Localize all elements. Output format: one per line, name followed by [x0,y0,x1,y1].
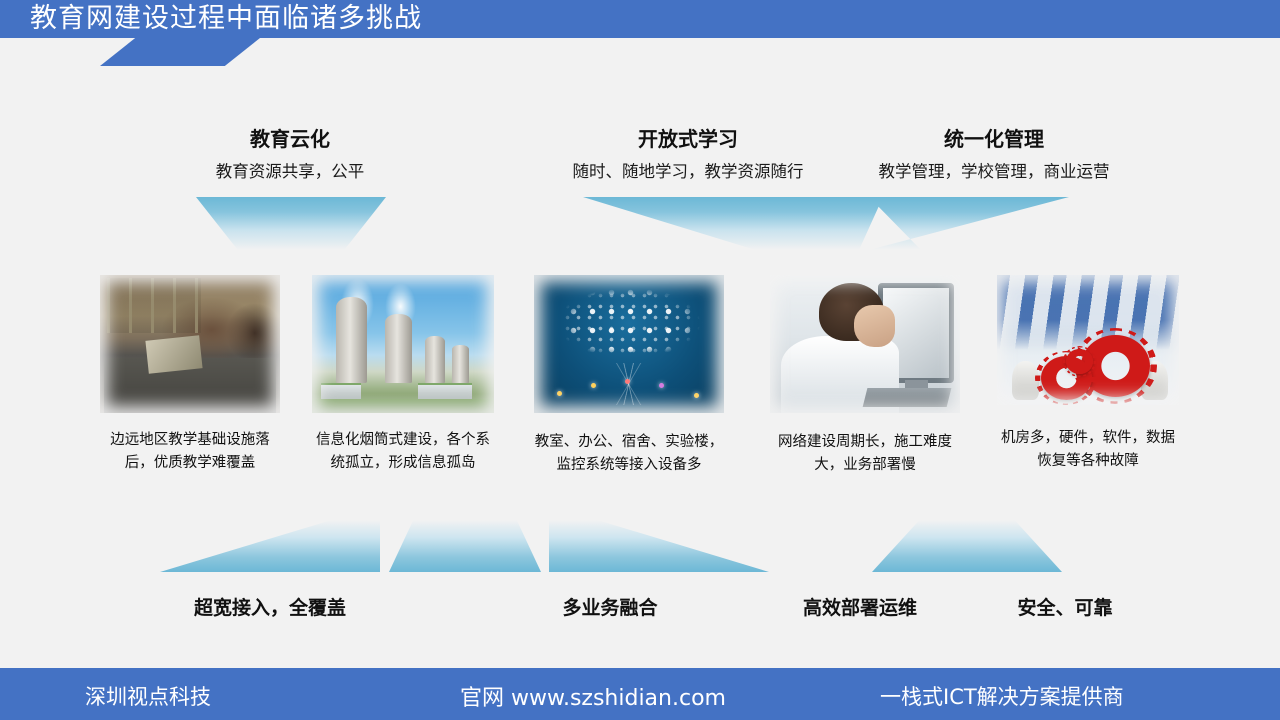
funnel-arrow-down [733,197,883,250]
card-caption: 机房多，硬件，软件，数据恢复等各种故障 [997,427,1179,473]
theme-title: 统一化管理 [848,126,1140,152]
theme-subtitle: 教学管理，学校管理，商业运营 [848,160,1140,184]
footer-slogan: 一栈式ICT解决方案提供商 [880,681,1124,711]
remote-classroom-photo [100,275,280,413]
funnel-arrow-down [196,197,386,250]
page-title: 教育网建设过程中面临诸多挑战 [30,3,422,35]
funnel-arrow-up [389,520,541,572]
theme-title: 开放式学习 [538,126,838,152]
funnel-arrow-up [872,520,1062,572]
theme-block-unified-management: 统一化管理 教学管理，学校管理，商业运营 [848,126,1140,184]
funnel-arrow-up [549,520,769,572]
theme-subtitle: 教育资源共享，公平 [170,160,410,184]
benefit-label: 多业务融合 [500,595,720,621]
footer-company-name: 深圳视点科技 [85,681,211,711]
benefit-label: 超宽接入，全覆盖 [140,595,400,621]
iot-devices-photo [534,275,724,413]
funnel-arrow-up [160,520,380,572]
cooling-towers-photo [312,275,494,413]
frustrated-user-photo [770,275,960,413]
benefit-label: 高效部署运维 [760,595,960,621]
header-accent-tab [100,38,260,66]
theme-block-education-cloud: 教育云化 教育资源共享，公平 [170,126,410,184]
challenge-card: 教室、办公、宿舍、实验楼，监控系统等接入设备多 [534,275,724,477]
slide-canvas: 教育网建设过程中面临诸多挑战 教育云化 教育资源共享，公平 开放式学习 随时、随… [0,0,1280,720]
challenge-card: 网络建设周期长，施工难度大，业务部署慢 [770,275,960,477]
card-caption: 网络建设周期长，施工难度大，业务部署慢 [770,431,960,477]
challenge-card: 边远地区教学基础设施落后，优质教学难覆盖 [100,275,280,475]
server-room-gears-photo [997,275,1179,405]
theme-block-open-learning: 开放式学习 随时、随地学习，教学资源随行 [538,126,838,184]
challenge-card: 机房多，硬件，软件，数据恢复等各种故障 [997,275,1179,473]
benefit-label: 安全、可靠 [970,595,1160,621]
footer-bar: 深圳视点科技 官网 www.szshidian.com 一栈式ICT解决方案提供… [0,668,1280,720]
challenge-card: 信息化烟筒式建设，各个系统孤立，形成信息孤岛 [312,275,494,475]
funnel-arrow-down [869,197,1069,250]
theme-subtitle: 随时、随地学习，教学资源随行 [538,160,838,184]
theme-title: 教育云化 [170,126,410,152]
card-caption: 信息化烟筒式建设，各个系统孤立，形成信息孤岛 [312,429,494,475]
footer-website: 官网 www.szshidian.com [460,680,726,712]
card-caption: 边远地区教学基础设施落后，优质教学难覆盖 [100,429,280,475]
card-caption: 教室、办公、宿舍、实验楼，监控系统等接入设备多 [534,431,724,477]
